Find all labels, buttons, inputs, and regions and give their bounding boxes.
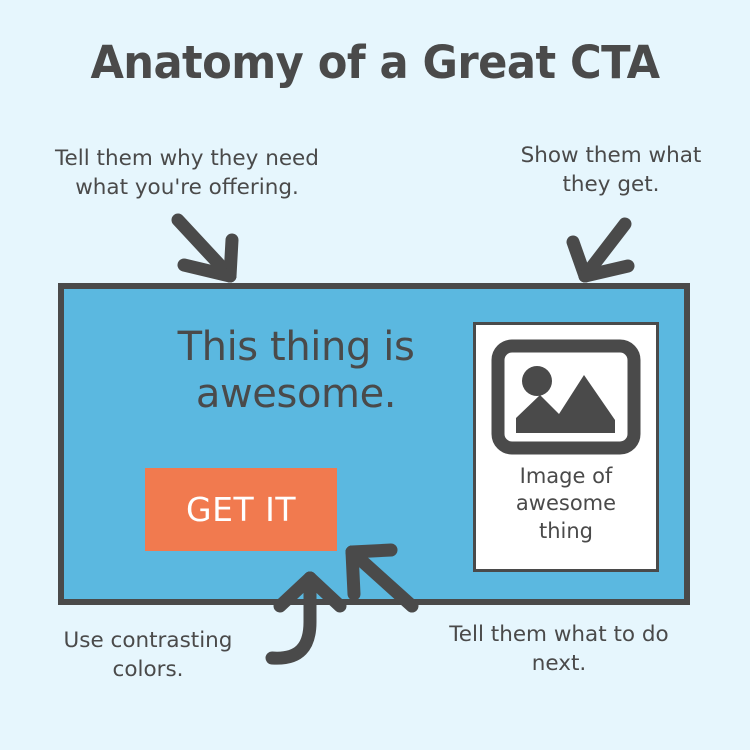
get-it-button-label: GET IT [186,493,296,526]
annotation-label-headline: Tell them why they need what you're offe… [12,144,362,202]
annotation-label-colors: Use contrasting colors. [22,626,274,684]
annotation-label-next-step: Tell them what to do next. [400,620,718,678]
picture-placeholder-icon [491,339,641,455]
arrow-down-right-icon [170,212,250,292]
cta-box: This thing is awesome. GET IT Image of a… [58,283,690,605]
annotation-label-image: Show them what they get. [480,141,742,199]
cta-headline: This thing is awesome. [116,324,476,418]
image-card: Image of awesome thing [473,322,659,572]
page-title: Anatomy of a Great CTA [15,36,735,89]
get-it-button[interactable]: GET IT [145,468,337,551]
image-card-caption: Image of awesome thing [516,463,616,545]
infographic-canvas: Anatomy of a Great CTA Tell them why the… [0,0,750,750]
